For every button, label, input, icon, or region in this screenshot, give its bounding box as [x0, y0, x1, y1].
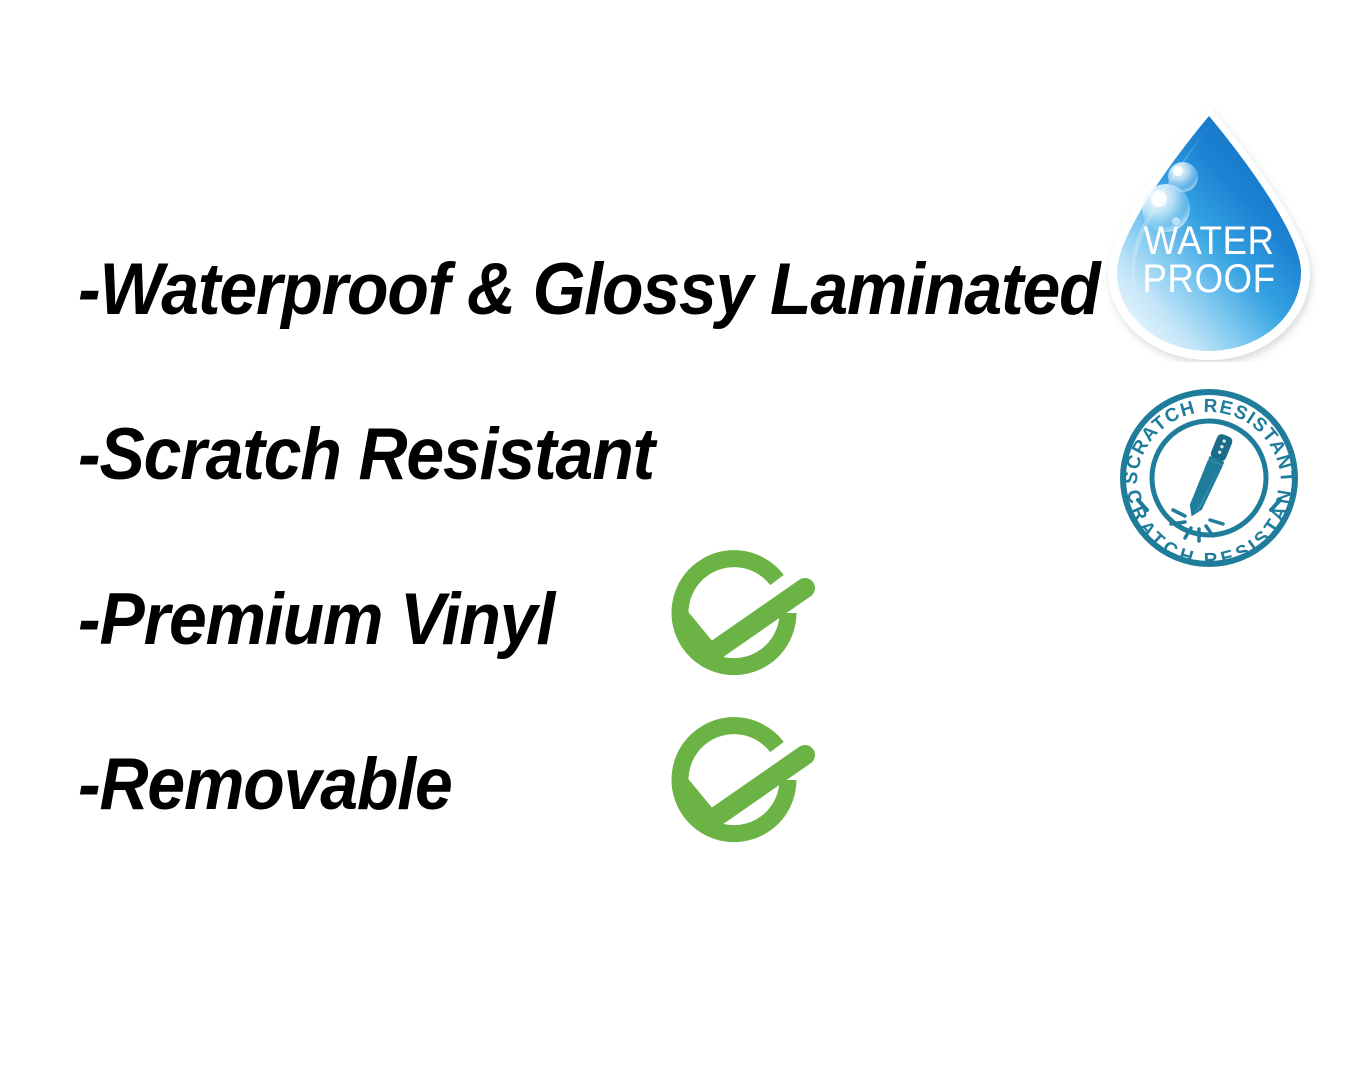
waterproof-drop-icon: WATER PROOF — [1098, 104, 1320, 362]
feature-label-premium-vinyl: -Premium Vinyl — [78, 580, 554, 660]
feature-label-removable: -Removable — [78, 745, 452, 825]
feature-list: -Waterproof & Glossy Laminated -Scratch … — [78, 250, 1108, 910]
scratch-resistant-icon: SCRATCH RESISTANT SCRATCH RESISTANT — [1113, 388, 1305, 568]
feature-label-scratch-resistant: -Scratch Resistant — [78, 415, 654, 495]
knife-icon — [1186, 433, 1234, 521]
check-circle-icon-removable — [640, 717, 830, 877]
list-item: -Scratch Resistant — [78, 415, 1108, 580]
list-item: -Removable — [78, 745, 1108, 910]
feature-label-waterproof: -Waterproof & Glossy Laminated — [78, 250, 1100, 330]
water-bubble-large — [1142, 184, 1190, 232]
list-item: -Waterproof & Glossy Laminated — [78, 250, 1108, 415]
check-circle-icon-premium-vinyl — [640, 550, 830, 710]
feature-graphic-canvas: -Waterproof & Glossy Laminated -Scratch … — [0, 0, 1359, 1080]
list-item: -Premium Vinyl — [78, 580, 1108, 745]
